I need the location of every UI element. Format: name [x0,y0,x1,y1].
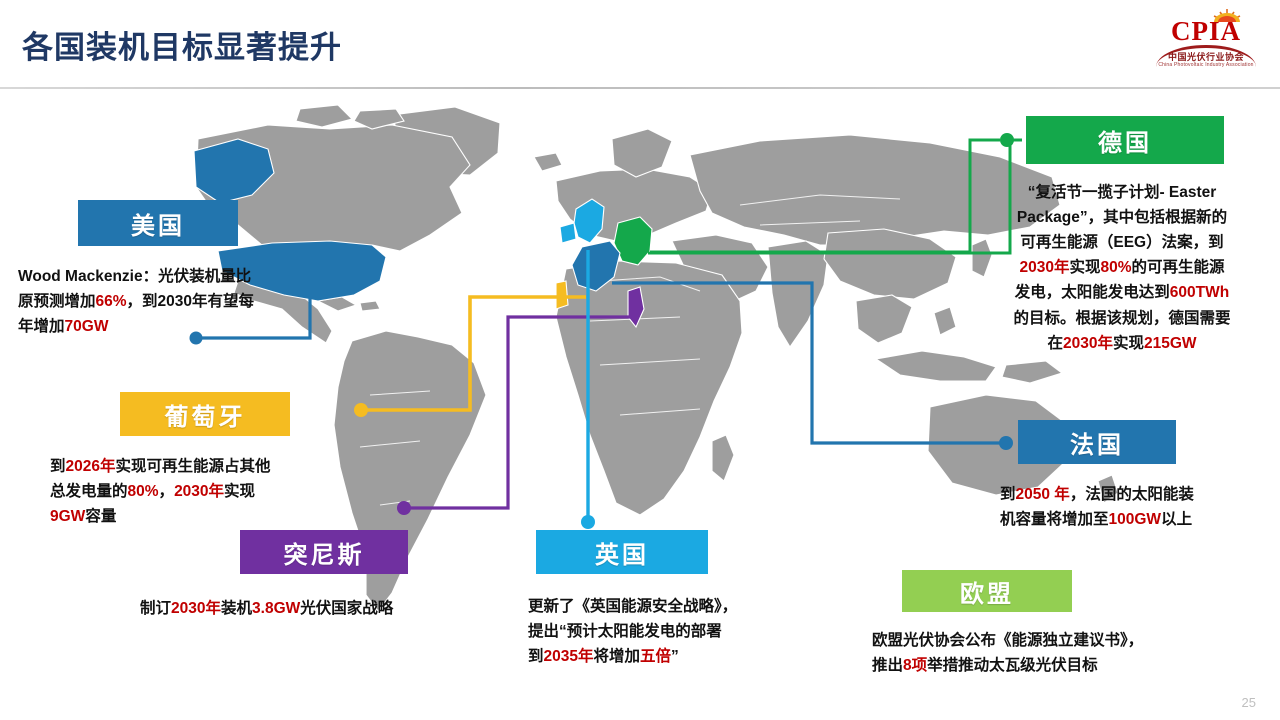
pt-line2b: 80% [128,483,159,500]
eu-line1: 欧盟光伏协会公布《能源独立建议书》， [872,632,1143,649]
page-title: 各国装机目标显著提升 [22,22,342,67]
map-highlight-ireland [560,223,576,243]
country-label-usa: 美国 [131,206,185,241]
fr-line2c: 以上 [1161,511,1192,528]
de-line4c: 80% [1100,259,1131,276]
country-card-usa[interactable]: 美国 Wood Mackenzie：光伏装机量比 原预测增加66%，到2030年… [18,200,378,339]
country-label-eu: 欧盟 [960,574,1014,609]
country-card-germany[interactable]: 德国 “复活节一揽子计划- Easter Package”，其中包括根据新的 可… [972,116,1272,356]
uk-line3d: 五倍 [640,648,671,665]
country-card-eu[interactable]: 欧盟 欧盟光伏协会公布《能源独立建议书》， 推出8项举措推动太瓦级光伏目标 [872,570,1202,678]
de-line7a: 在 [1047,335,1063,352]
uk-line3c: 将增加 [594,648,641,665]
uk-line3e: ” [671,648,679,665]
de-line4a: 2030年 [1019,259,1069,276]
de-line4b: 实现 [1069,259,1100,276]
fr-line2a: 机容量将增加至 [1000,511,1109,528]
country-label-germany: 德国 [1098,123,1152,158]
eu-line2c: 举措推动太瓦级光伏目标 [927,657,1098,674]
map-highlight-germany [614,217,652,265]
de-line7b: 2030年 [1063,335,1113,352]
uk-line3b: 2035年 [544,648,594,665]
de-line2: Package”，其中包括根据新的 [1017,209,1227,226]
pt-line3b: 容量 [85,508,116,525]
fr-line2b: 100GW [1109,511,1162,528]
usa-line2b: 66% [96,293,127,310]
pt-line1a: 到 [50,458,66,475]
country-body-uk: 更新了《英国能源安全战略》， 提出“预计太阳能发电的部署 到2035年将增加五倍… [528,594,828,669]
usa-line3b: 70GW [65,318,109,335]
header-divider [0,87,1280,89]
tn-line1c: 装机 [221,600,252,617]
country-header-germany[interactable]: 德国 [1026,116,1224,164]
map-highlight-portugal [556,281,568,309]
country-body-france: 到2050 年，法国的太阳能装 机容量将增加至100GW以上 [1000,482,1278,532]
pt-line2a: 总发电量的 [50,483,128,500]
cpia-logo: CPIA 中国光伏行业协会 China Photovoltaic Industr… [1150,6,1262,76]
pt-line3a: 9GW [50,508,85,525]
tn-line1b: 2030年 [171,600,221,617]
country-card-uk[interactable]: 英国 更新了《英国能源安全战略》， 提出“预计太阳能发电的部署 到2035年将增… [528,530,828,669]
usa-line1: Wood Mackenzie：光伏装机量比 [18,268,251,285]
country-header-uk[interactable]: 英国 [536,530,708,574]
de-line5a: 发电，太阳能发电达到 [1015,284,1170,301]
tn-line1d: 3.8GW [252,600,300,617]
fr-line1b: 2050 年 [1016,486,1070,503]
country-label-portugal: 葡萄牙 [165,397,246,432]
country-body-tunisia: 制订2030年装机3.8GW光伏国家战略 [140,596,540,621]
country-header-tunisia[interactable]: 突尼斯 [240,530,408,574]
eu-line2b: 8项 [903,657,927,674]
usa-line3a: 年增加 [18,318,65,335]
country-header-portugal[interactable]: 葡萄牙 [120,392,290,436]
country-label-france: 法国 [1070,425,1124,460]
country-body-usa: Wood Mackenzie：光伏装机量比 原预测增加66%，到2030年有望每… [18,264,378,339]
de-line7d: 215GW [1144,335,1197,352]
page-number: 25 [1242,695,1256,710]
country-body-portugal: 到2026年实现可再生能源占其他 总发电量的80%，2030年实现 9GW容量 [50,454,380,529]
pt-line2c: ， [159,483,175,500]
uk-line3a: 到 [528,648,544,665]
usa-line2a: 原预测增加 [18,293,96,310]
usa-line2c: ，到2030年有望每 [127,293,254,310]
de-line7c: 实现 [1113,335,1144,352]
uk-line2: 提出“预计太阳能发电的部署 [528,623,722,640]
country-card-portugal[interactable]: 葡萄牙 到2026年实现可再生能源占其他 总发电量的80%，2030年实现 9G… [50,392,380,529]
tn-line1e: 光伏国家战略 [300,600,393,617]
country-body-eu: 欧盟光伏协会公布《能源独立建议书》， 推出8项举措推动太瓦级光伏目标 [872,628,1202,678]
fr-line1c: ，法国的太阳能装 [1070,486,1194,503]
pt-line1c: 实现可再生能源占其他 [116,458,271,475]
de-line5b: 600TWh [1170,284,1229,301]
country-header-france[interactable]: 法国 [1018,420,1176,464]
de-line1: “复活节一揽子计划- Easter [1028,184,1217,201]
slide-root: 各国装机目标显著提升 CPIA 中国光伏行业协会 China Photovolt… [0,0,1280,720]
fr-line1a: 到 [1000,486,1016,503]
de-line3: 可再生能源（EEG）法案，到 [1020,234,1223,251]
country-header-usa[interactable]: 美国 [78,200,238,246]
de-line4d: 的可再生能源 [1132,259,1225,276]
logo-en-name: China Photovoltaic Industry Association [1150,62,1262,68]
tn-line1a: 制订 [140,600,171,617]
country-card-france[interactable]: 法国 到2050 年，法国的太阳能装 机容量将增加至100GW以上 [1000,420,1278,532]
country-body-germany: “复活节一揽子计划- Easter Package”，其中包括根据新的 可再生能… [972,180,1272,356]
de-line6: 的目标。根据该规划，德国需要 [1013,310,1230,327]
pt-line2d: 2030年 [174,483,224,500]
country-card-tunisia[interactable]: 突尼斯 制订2030年装机3.8GW光伏国家战略 [140,530,540,621]
pt-line2e: 实现 [224,483,255,500]
country-header-eu[interactable]: 欧盟 [902,570,1072,612]
country-label-tunisia: 突尼斯 [284,535,365,570]
eu-line2a: 推出 [872,657,903,674]
logo-wordmark: CPIA [1150,16,1262,47]
uk-line1: 更新了《英国能源安全战略》， [528,598,737,615]
country-label-uk: 英国 [595,535,649,570]
pt-line1b: 2026年 [66,458,116,475]
